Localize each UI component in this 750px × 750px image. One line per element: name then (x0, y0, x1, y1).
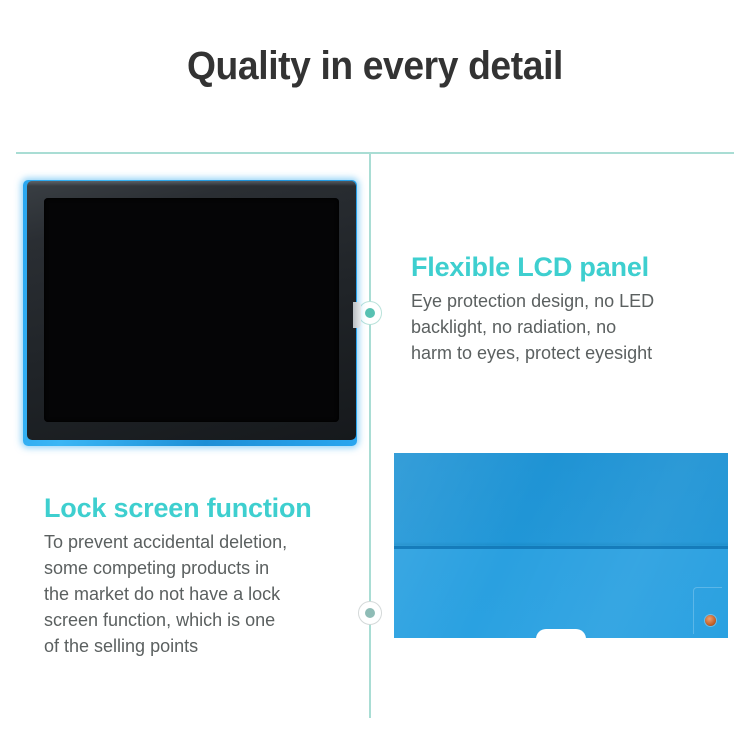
feature-flexible-lcd-panel: Flexible LCD panel Eye protection design… (411, 250, 731, 366)
feature-body-line: backlight, no radiation, no (411, 314, 731, 340)
feature-body-lock-screen-function: To prevent accidental deletion, some com… (44, 529, 364, 659)
page-title: Quality in every detail (26, 42, 724, 90)
timeline-node-top-core (365, 308, 375, 318)
horizontal-divider (16, 152, 734, 154)
feature-body-line: of the selling points (44, 633, 364, 659)
back-cover-screw-icon (705, 615, 716, 626)
feature-body-line: harm to eyes, protect eyesight (411, 340, 731, 366)
timeline-node-top-icon (358, 301, 382, 325)
feature-body-flexible-lcd-panel: Eye protection design, no LED backlight,… (411, 288, 731, 366)
feature-heading-flexible-lcd-panel: Flexible LCD panel (411, 250, 731, 284)
timeline-node-bottom-core (365, 608, 375, 618)
back-cover-seam-line (394, 546, 728, 549)
tablet-screen (44, 198, 339, 422)
tablet-side-button-icon (353, 302, 361, 328)
feature-lock-screen-function: Lock screen function To prevent accident… (44, 491, 364, 659)
back-cover-corner-outline (693, 587, 722, 634)
tablet-back-cover-image (394, 453, 728, 638)
feature-body-line: screen function, which is one (44, 607, 364, 633)
feature-body-line: Eye protection design, no LED (411, 288, 731, 314)
back-cover-bottom-notch (536, 629, 586, 638)
feature-body-line: the market do not have a lock (44, 581, 364, 607)
vertical-divider (369, 152, 371, 718)
feature-heading-lock-screen-function: Lock screen function (44, 491, 364, 525)
infographic-page: Quality in every detail Flexible LCD pan… (0, 0, 750, 750)
tablet-bezel-highlight (27, 181, 356, 186)
lcd-writing-tablet-image (23, 180, 357, 446)
feature-body-line: some competing products in (44, 555, 364, 581)
feature-body-line: To prevent accidental deletion, (44, 529, 364, 555)
